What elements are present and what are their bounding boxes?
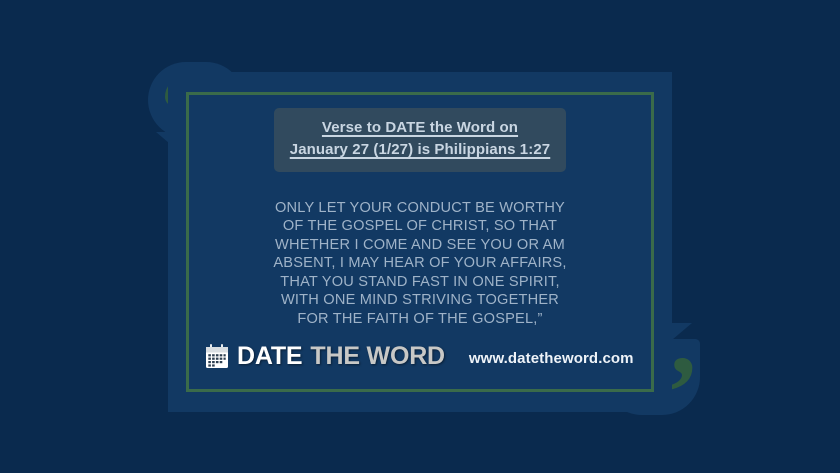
graphic-canvas: “ ” Verse to DATE the Word on January 27…	[0, 0, 840, 473]
verse-card: Verse to DATE the Word on January 27 (1/…	[168, 72, 672, 412]
verse-body-text: ONLY LET YOUR CONDUCT BE WORTHY OF THE G…	[273, 199, 566, 329]
card-content: Verse to DATE the Word on January 27 (1/…	[168, 72, 672, 412]
verse-title-badge: Verse to DATE the Word on January 27 (1/…	[274, 108, 566, 172]
verse-title-text: Verse to DATE the Word on January 27 (1/…	[290, 117, 550, 161]
